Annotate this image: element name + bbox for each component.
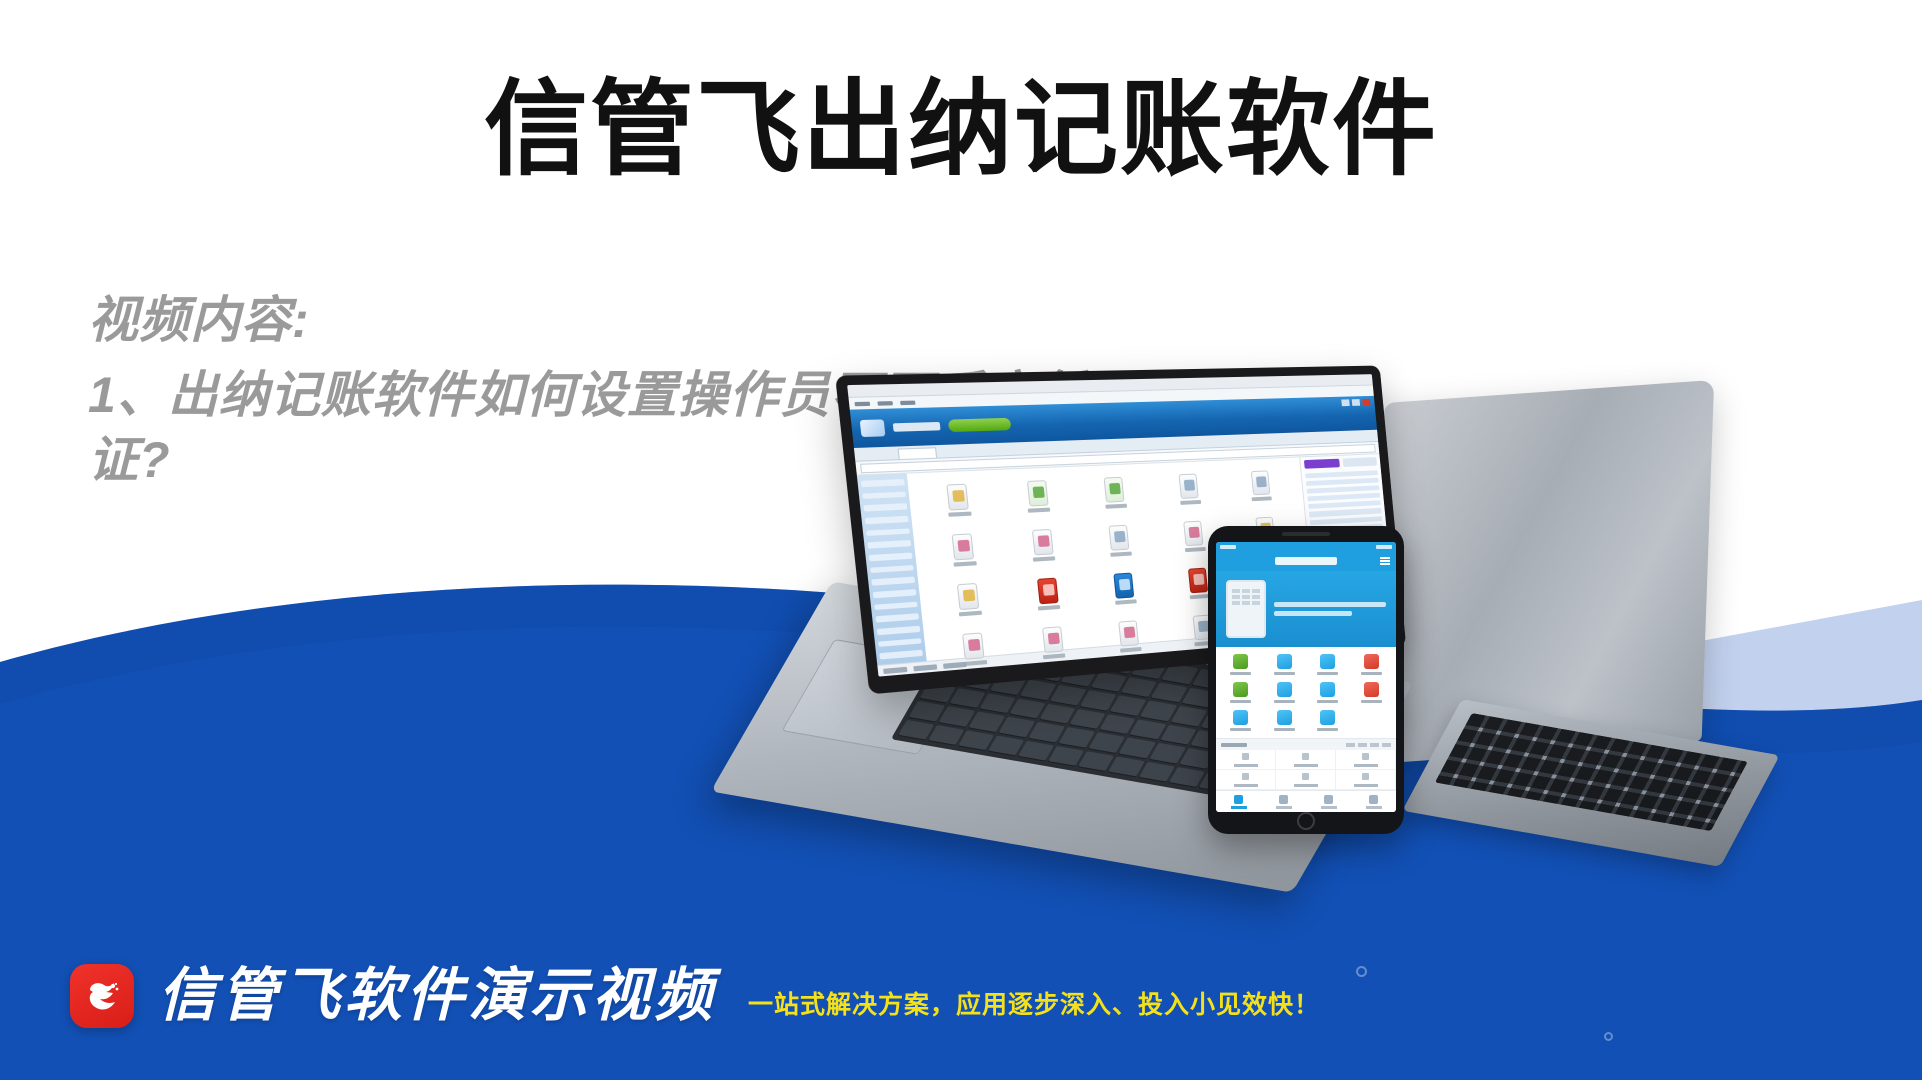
decorative-circle-icon — [1356, 966, 1367, 977]
decorative-circle-icon — [1604, 1032, 1613, 1041]
brand-tagline-text: 一站式解决方案，应用逐步深入、投入小见效快！ — [748, 985, 1320, 1021]
phone-grid-icon[interactable] — [1220, 654, 1262, 675]
phone-stat-cell[interactable] — [1276, 770, 1336, 790]
phone-grid-icon — [1351, 710, 1393, 731]
phone-grid-icon[interactable] — [1351, 682, 1393, 703]
phone-stat-cell[interactable] — [1216, 770, 1276, 790]
phone-tab-list[interactable] — [1261, 791, 1306, 812]
phone-stat-cell[interactable] — [1216, 750, 1276, 770]
phone-app-title — [1275, 557, 1337, 565]
phone-stat-cell[interactable] — [1336, 770, 1396, 790]
app-grid-icon[interactable] — [1225, 469, 1298, 515]
app-grid-icon[interactable] — [1003, 527, 1084, 576]
page-title: 信管飞出纳记账软件 — [0, 72, 1922, 188]
app-license-badge — [948, 418, 1011, 432]
phone-hero-text — [1274, 602, 1386, 616]
app-logo-icon — [860, 419, 886, 437]
phone-status-bar — [1216, 542, 1396, 551]
phone-grid-icon[interactable] — [1264, 654, 1306, 675]
phone-device — [1208, 526, 1404, 834]
laptop-back-base — [1402, 699, 1780, 867]
menu-icon[interactable] — [1380, 557, 1390, 565]
phone-tab-reports[interactable] — [1306, 791, 1351, 812]
app-grid-icon[interactable] — [927, 581, 1011, 632]
phone-tab-profile[interactable] — [1351, 791, 1396, 812]
phone-grid-icon[interactable] — [1264, 710, 1306, 731]
app-brand-text — [893, 422, 941, 432]
slide-canvas: 信管飞出纳记账软件 视频内容: 1、出纳记账软件如何设置操作员不可反审凭证? — [0, 0, 1922, 1080]
app-grid-icon[interactable] — [1081, 523, 1159, 571]
app-grid-icon[interactable] — [998, 479, 1079, 528]
laptop-back-lid — [1372, 380, 1714, 764]
footer-brand-bar: 信管飞软件演示视频 一站式解决方案，应用逐步深入、投入小见效快！ — [70, 964, 1320, 1028]
device-mockup-group — [860, 370, 1922, 950]
app-grid-icon[interactable] — [922, 532, 1006, 582]
phone-stat-cell[interactable] — [1276, 750, 1336, 770]
brand-name-text: 信管飞软件演示视频 — [158, 967, 716, 1025]
app-right-panel-tabs[interactable] — [1304, 457, 1377, 469]
bird-logo-icon — [70, 964, 134, 1028]
window-controls[interactable] — [1341, 399, 1370, 406]
phone-grid-icon[interactable] — [1307, 654, 1349, 675]
phone-grid-icon[interactable] — [1307, 710, 1349, 731]
phone-home-button-icon[interactable] — [1297, 812, 1315, 830]
app-grid-icon[interactable] — [1086, 571, 1164, 620]
app-grid-icon[interactable] — [1008, 576, 1088, 626]
app-grid-icon[interactable] — [1152, 472, 1227, 519]
phone-hero-device-icon — [1226, 580, 1266, 638]
phone-grid-icon[interactable] — [1351, 654, 1393, 675]
phone-icon-grid[interactable] — [1216, 647, 1396, 738]
phone-stats-grid[interactable] — [1216, 750, 1396, 790]
phone-grid-icon[interactable] — [1220, 710, 1262, 731]
app-grid-icon[interactable] — [917, 482, 1001, 532]
phone-earpiece-icon — [1282, 532, 1330, 536]
phone-stat-cell[interactable] — [1336, 750, 1396, 770]
phone-bottom-tabbar[interactable] — [1216, 790, 1396, 812]
phone-hero-banner — [1216, 571, 1396, 647]
app-grid-icon[interactable] — [1076, 476, 1154, 524]
video-content-label: 视频内容: — [88, 288, 1098, 353]
phone-screen-content — [1216, 542, 1396, 812]
phone-tab-home[interactable] — [1216, 791, 1261, 812]
phone-section-header — [1216, 738, 1396, 750]
phone-grid-icon[interactable] — [1220, 682, 1262, 703]
phone-grid-icon[interactable] — [1264, 682, 1306, 703]
phone-app-header — [1216, 551, 1396, 571]
phone-grid-icon[interactable] — [1307, 682, 1349, 703]
